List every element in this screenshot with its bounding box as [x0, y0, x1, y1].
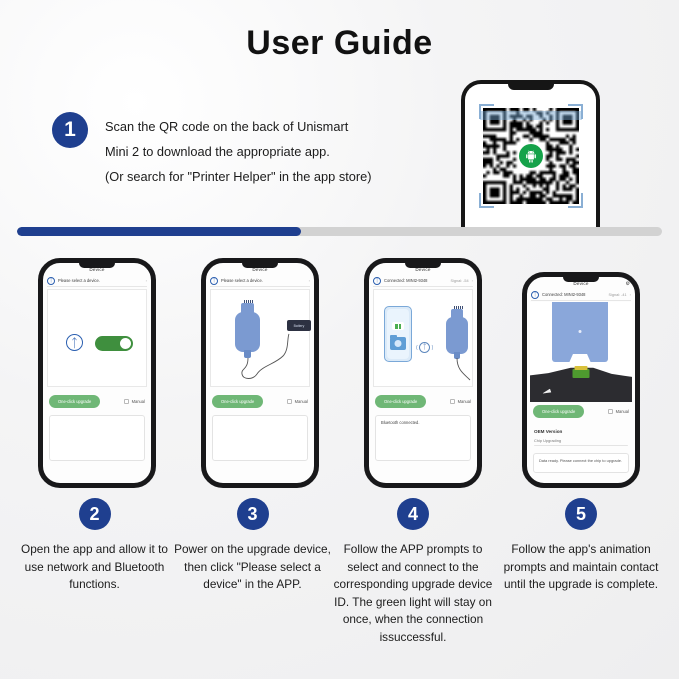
qr-frame-corner-br: [568, 193, 583, 208]
qr-scan-line: [480, 111, 582, 120]
step-1-line-3: (Or search for "Printer Helper" in the a…: [105, 164, 372, 189]
toggle-knob: [120, 338, 132, 350]
log-box: Bluetooth connected.: [375, 415, 471, 461]
one-click-upgrade-button[interactable]: One-click upgrade: [49, 395, 100, 408]
bluetooth-toggle[interactable]: [95, 336, 133, 351]
qr-code: [483, 108, 579, 204]
card-notch: [569, 354, 591, 363]
action-row: One-click upgrade Manual: [533, 405, 629, 418]
battery-icon: [392, 322, 404, 330]
chevron-right-icon[interactable]: ›: [309, 278, 310, 283]
manual-checkbox[interactable]: [287, 399, 292, 404]
step-2-badge: 2: [79, 498, 111, 530]
log-box: [49, 415, 145, 461]
step-4-column: 4 Follow the APP prompts to select and c…: [328, 498, 498, 646]
animation-canvas: [530, 302, 632, 402]
page-title: User Guide: [0, 24, 679, 63]
phone-notch: [405, 263, 441, 268]
action-row: One-click upgrade Manual: [212, 395, 308, 408]
phone-notch: [242, 263, 278, 268]
connector-cable: [440, 354, 480, 390]
log-box: Data ready. Please connect the chip to u…: [533, 453, 629, 473]
device-status-row[interactable]: ᛏ Connected: MINI2-9348 Signal: -41 ›: [531, 289, 631, 301]
device-status-text: Connected: MINI2-9348: [384, 278, 448, 283]
step-1-line-2: Mini 2 to download the appropriate app.: [105, 139, 372, 164]
manual-checkbox[interactable]: [450, 399, 455, 404]
progress-bar-track[interactable]: [17, 227, 662, 236]
manual-checkbox-group[interactable]: Manual: [287, 399, 308, 404]
chevron-right-icon[interactable]: ›: [472, 278, 473, 283]
phone-mockup-step5: Device ⚙ ᛏ Connected: MINI2-9348 Signal:…: [522, 272, 640, 488]
device-status-row[interactable]: ᛏ Connected: MINI2-9348 Signal: -54 ›: [373, 275, 473, 287]
device-canvas: Battery: [210, 289, 310, 387]
manual-checkbox-group[interactable]: Manual: [124, 399, 145, 404]
step-2-text: Open the app and allow it to use network…: [12, 541, 177, 594]
phone-notch: [508, 84, 554, 90]
manual-label: Manual: [616, 409, 629, 414]
manual-label: Manual: [295, 399, 308, 404]
phone-mockup-step2: Device ᛏ Please select a device. › ᛏ One…: [38, 258, 156, 488]
step-1-text: Scan the QR code on the back of Unismart…: [105, 112, 372, 189]
upgrade-progress-bar: [534, 445, 628, 446]
manual-checkbox[interactable]: [608, 409, 613, 414]
signal-strength: Signal: -54: [451, 279, 469, 283]
signal-strength: Signal: -41: [609, 293, 627, 297]
device-status-row[interactable]: ᛏ Please select a device. ›: [210, 275, 310, 287]
manual-checkbox-group[interactable]: Manual: [450, 399, 471, 404]
chevron-right-icon[interactable]: ›: [630, 292, 631, 297]
step-1-line-1: Scan the QR code on the back of Unismart: [105, 114, 372, 139]
chip-upgrading-label: Chip Upgrading: [534, 438, 561, 443]
bluetooth-icon: ᛏ: [210, 277, 218, 285]
qr-frame-corner-bl: [479, 193, 494, 208]
manual-checkbox[interactable]: [124, 399, 129, 404]
connector-cable: [231, 308, 319, 386]
step-5-column: 5 Follow the app's animation prompts and…: [495, 498, 667, 594]
pair-wave-right: ): [432, 345, 434, 351]
qr-frame-corner-tr: [568, 104, 583, 119]
one-click-upgrade-button[interactable]: One-click upgrade: [533, 405, 584, 418]
upgrade-card-illustration: [552, 302, 608, 362]
step-1-block: 1 Scan the QR code on the back of Unisma…: [52, 112, 372, 189]
gear-icon[interactable]: ⚙: [626, 281, 630, 287]
step-5-badge: 5: [565, 498, 597, 530]
pair-wave-left: (: [416, 345, 418, 351]
phone-mockup-row: Device ᛏ Please select a device. › ᛏ One…: [0, 258, 679, 490]
bluetooth-icon: ᛏ: [419, 342, 430, 353]
dongle-body: [446, 317, 468, 354]
manual-checkbox-group[interactable]: Manual: [608, 409, 629, 414]
bluetooth-icon: ᛏ: [531, 291, 539, 299]
step-2-column: 2 Open the app and allow it to use netwo…: [12, 498, 177, 594]
one-click-upgrade-button[interactable]: One-click upgrade: [212, 395, 263, 408]
animation-scene: [530, 302, 632, 402]
device-canvas: ( ᛏ ): [373, 289, 473, 387]
step-3-text: Power on the upgrade device, then click …: [170, 541, 335, 594]
device-status-text: Connected: MINI2-9348: [542, 292, 606, 297]
phone-notch: [79, 263, 115, 268]
step-3-column: 3 Power on the upgrade device, then clic…: [170, 498, 335, 594]
action-row: One-click upgrade Manual: [375, 395, 471, 408]
device-status-text: Please select a device.: [58, 278, 143, 283]
pairing-indicator: ( ᛏ ): [416, 342, 433, 353]
progress-bar-fill: [17, 227, 301, 236]
device-status-text: Please select a device.: [221, 278, 306, 283]
qr-code-phone-mockup: [461, 80, 600, 232]
manual-label: Manual: [132, 399, 145, 404]
bluetooth-icon: ᛏ: [47, 277, 55, 285]
phone-notch: [563, 277, 599, 282]
step-1-badge: 1: [52, 112, 88, 148]
bluetooth-large-icon: ᛏ: [66, 334, 83, 351]
device-status-row[interactable]: ᛏ Please select a device. ›: [47, 275, 147, 287]
firmware-folder-icon: [390, 337, 406, 350]
chevron-right-icon[interactable]: ›: [146, 278, 147, 283]
one-click-upgrade-button[interactable]: One-click upgrade: [375, 395, 426, 408]
step-3-badge: 3: [237, 498, 269, 530]
qr-frame-corner-tl: [479, 104, 494, 119]
log-box: [212, 415, 308, 461]
chip-illustration: [573, 369, 590, 378]
oem-version-label: OEM Version: [534, 429, 562, 434]
phone-mockup-step3: Device ᛏ Please select a device. › Batte…: [201, 258, 319, 488]
manual-label: Manual: [458, 399, 471, 404]
step-4-text: Follow the APP prompts to select and con…: [328, 541, 498, 646]
bluetooth-icon: ᛏ: [373, 277, 381, 285]
android-robot-icon: [519, 144, 543, 168]
action-row: One-click upgrade Manual: [49, 395, 145, 408]
step-5-text: Follow the app's animation prompts and m…: [495, 541, 667, 594]
mini-phone-illustration: [384, 306, 412, 362]
device-canvas: ᛏ: [47, 289, 147, 387]
step-4-badge: 4: [397, 498, 429, 530]
phone-mockup-step4: Device ᛏ Connected: MINI2-9348 Signal: -…: [364, 258, 482, 488]
